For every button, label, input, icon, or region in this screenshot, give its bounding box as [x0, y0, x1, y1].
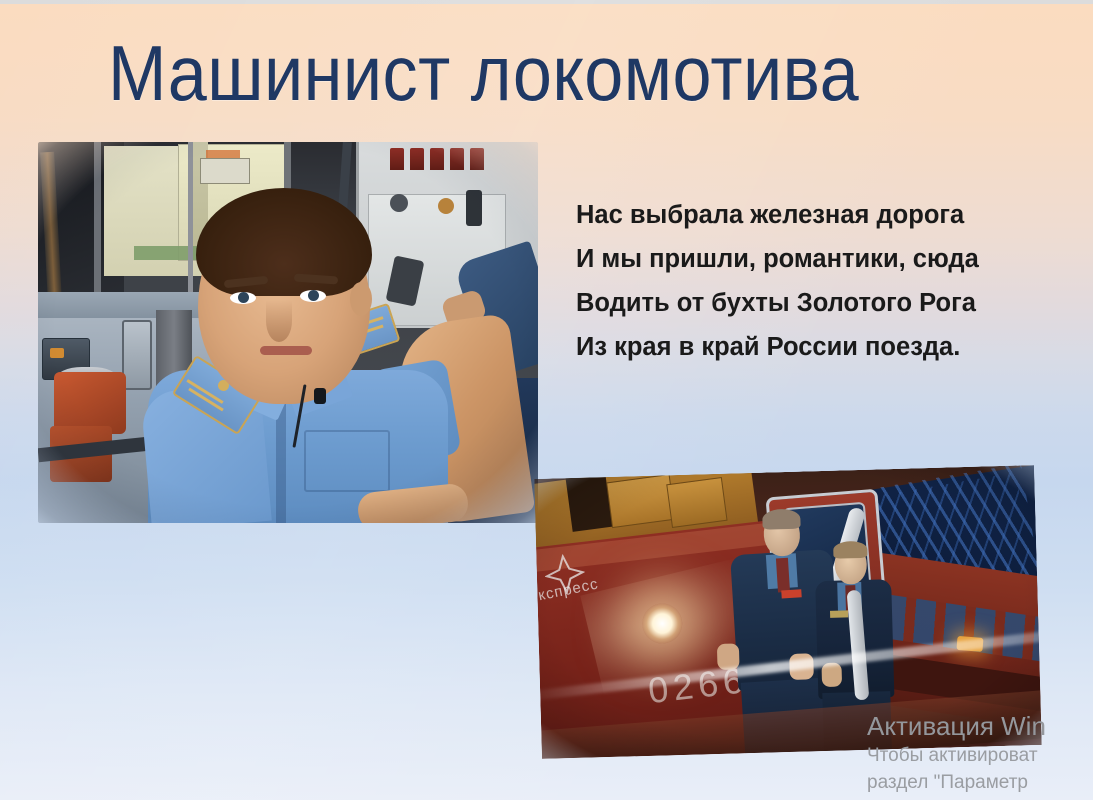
photo2-inner: экспресс 0266: [534, 465, 1042, 759]
photo2-vignette: [534, 465, 1042, 759]
poem-line-1: Нас выбрала железная дорога: [576, 193, 1076, 237]
photo-locomotive-driver-in-cab: [38, 142, 538, 523]
poem-line-4: Из края в край России поезда.: [576, 325, 1076, 369]
poem-line-3: Водить от бухты Золотого Рога: [576, 281, 1076, 325]
poem-line-2: И мы пришли, романтики, сюда: [576, 237, 1076, 281]
photo1-vignette: [38, 142, 538, 523]
presentation-slide: Машинист локомотива: [0, 0, 1093, 800]
photo-railway-crew-beside-red-train: экспресс 0266: [534, 465, 1042, 759]
poem-text-block: Нас выбрала железная дорога И мы пришли,…: [576, 193, 1076, 369]
slide-title: Машинист локомотива: [108, 27, 918, 119]
